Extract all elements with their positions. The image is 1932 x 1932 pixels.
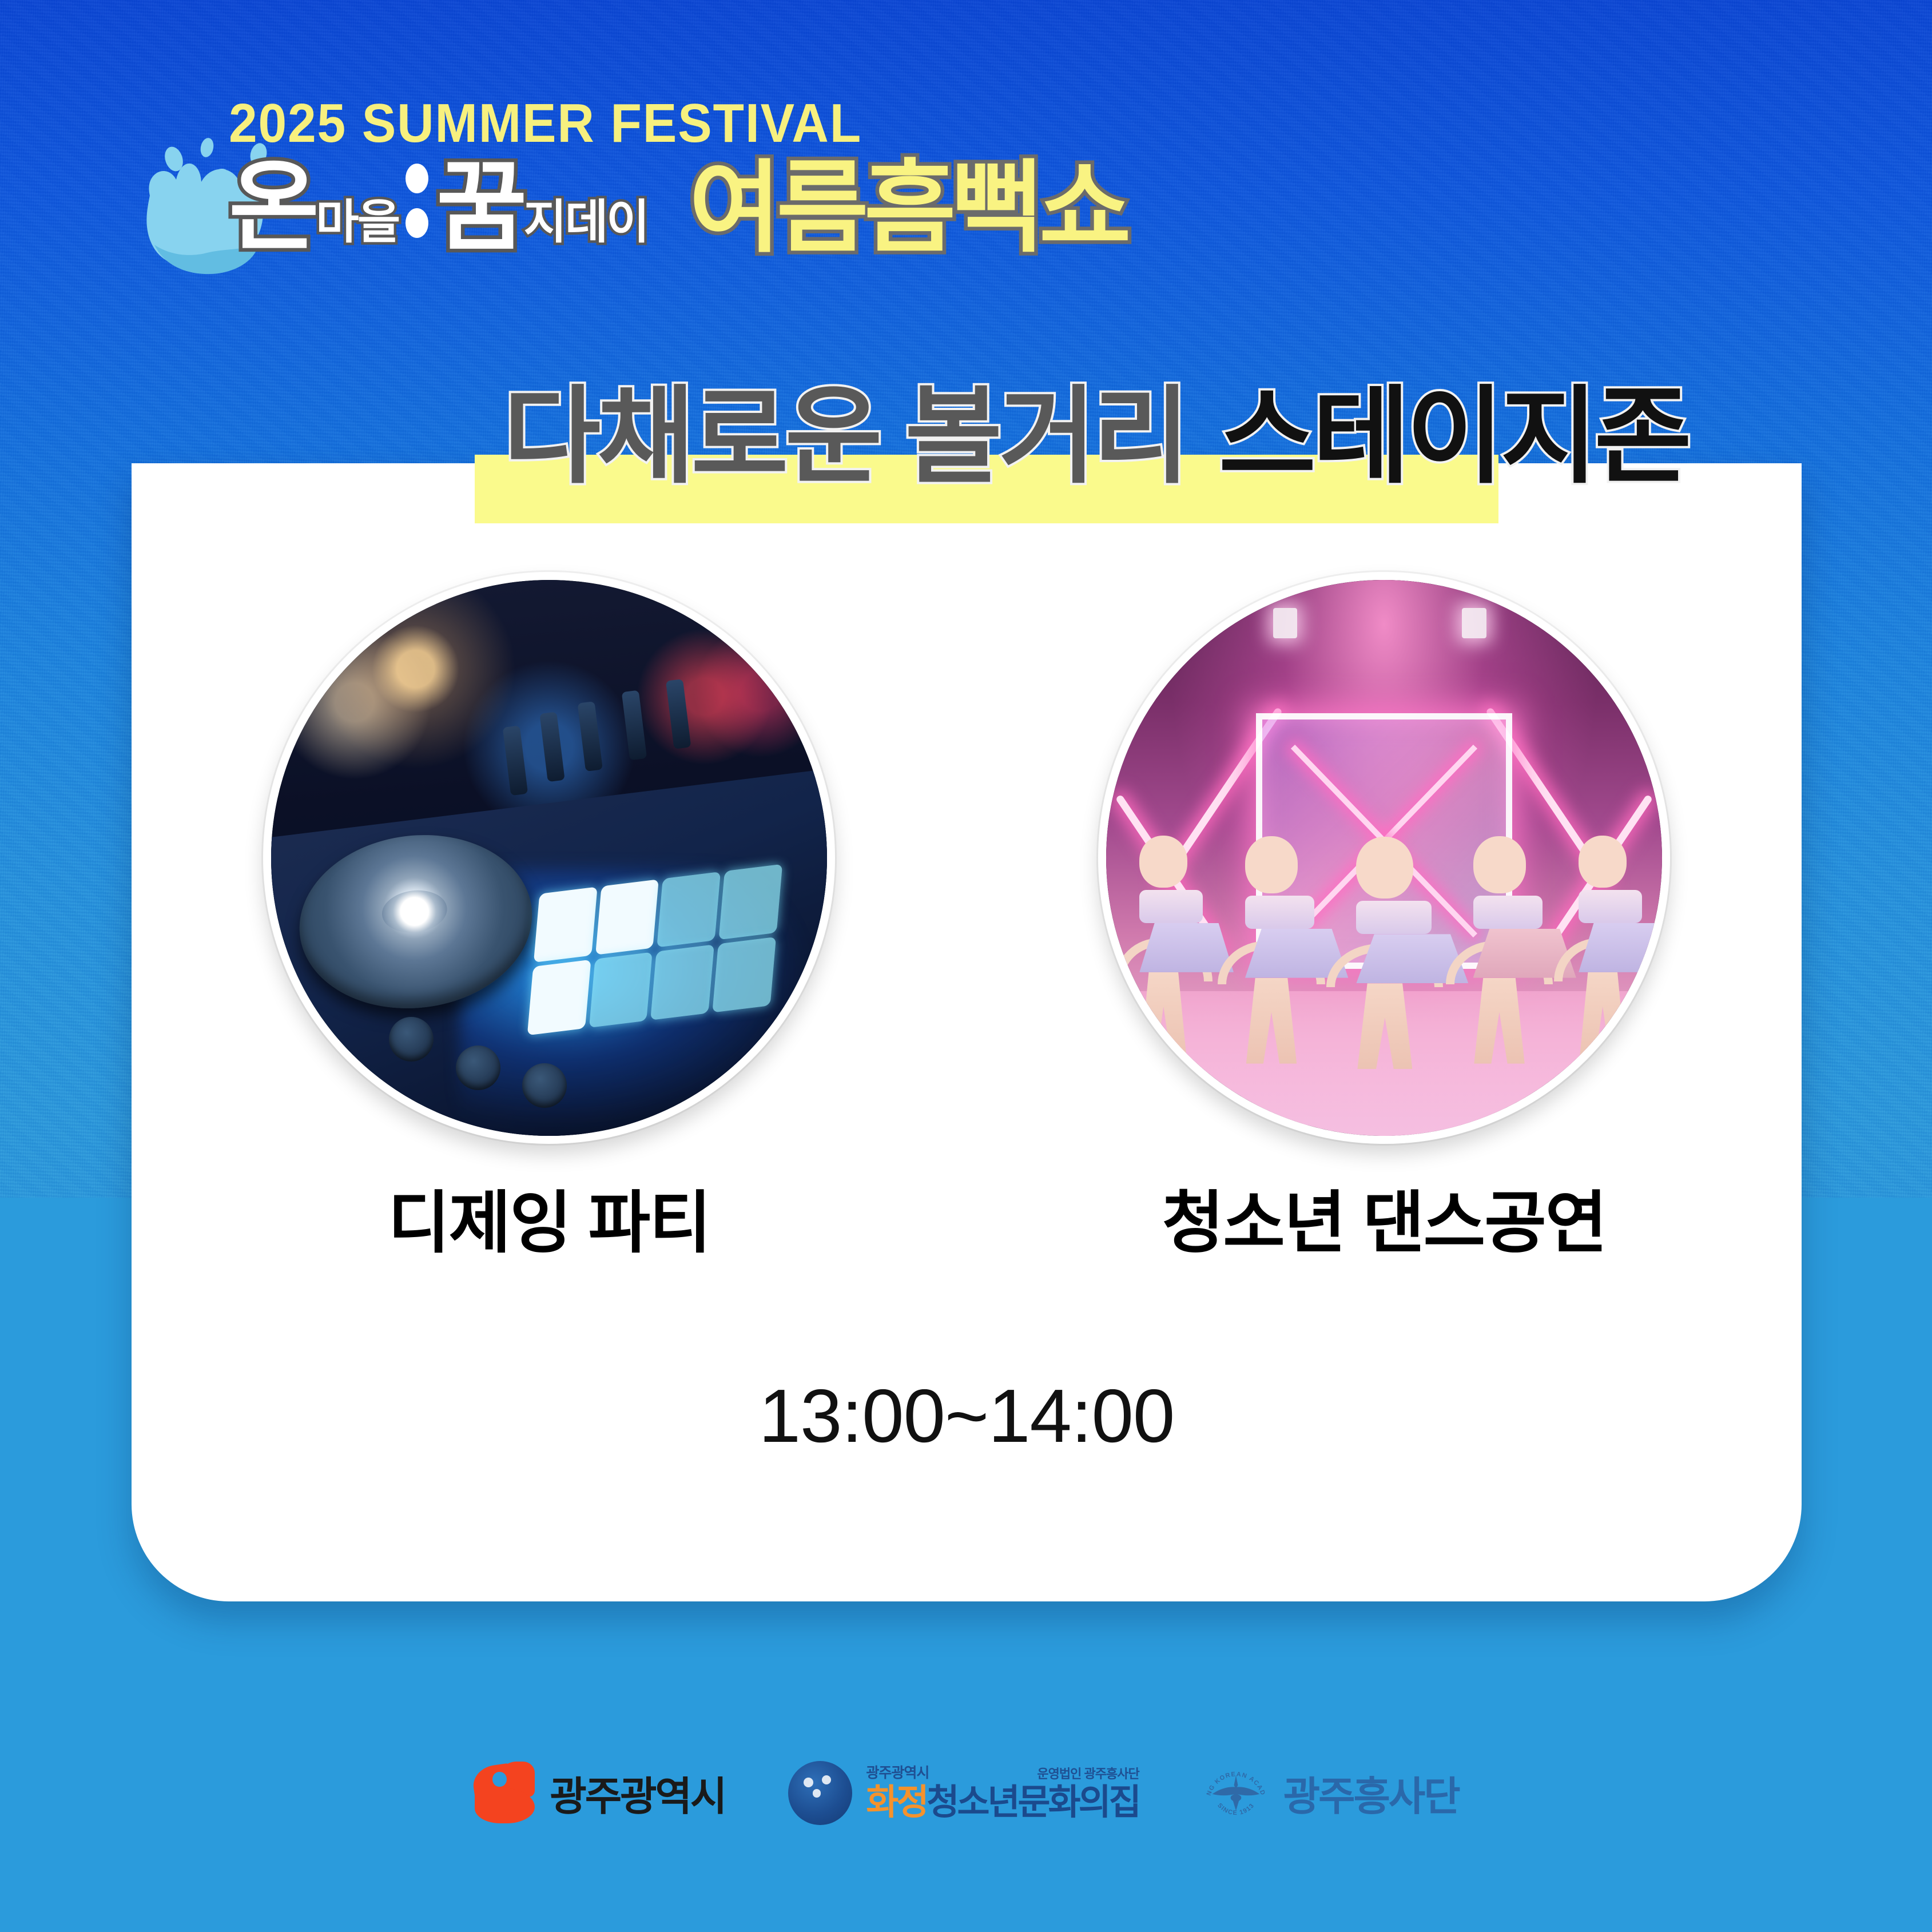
logo-word-on: 온	[229, 161, 316, 254]
program-item-dj[interactable]: 디제잉 파티	[206, 572, 892, 1257]
section-banner-title: 스테이지존	[1219, 378, 1688, 496]
hwajeong-sup-left: 광주광역시	[866, 1766, 929, 1780]
young-korean-academy-mark: YOUNG KOREAN ACADEMY SINCE 1913	[1202, 1759, 1270, 1827]
youth-dance-performance-photo	[1098, 572, 1670, 1144]
sponsor-young-korean-academy-label: 광주흥사단	[1283, 1764, 1459, 1822]
sponsor-footer: 광주광역시 광주광역시 운영법인 광주흥사단 화정청소년문화의집 YOU	[0, 1727, 1932, 1859]
hwajeong-name-blue: 청소년문화의집	[927, 1783, 1139, 1822]
program-label-dj: 디제잉 파티	[206, 1190, 892, 1257]
program-list: 디제잉 파티 청소년 댄스공연	[132, 572, 1802, 1327]
sponsor-gwangju-city-label: 광주광역시	[550, 1764, 725, 1822]
festival-korean-logo: 온 마을 꿈 지데이 여름흠뻑쇼	[229, 159, 1127, 254]
hwajeong-youth-center-mark	[788, 1761, 852, 1825]
bird-icon	[1211, 1774, 1261, 1812]
sponsor-hwajeong-youth-center[interactable]: 광주광역시 운영법인 광주흥사단 화정청소년문화의집	[788, 1761, 1139, 1825]
logo-colon-icon	[406, 164, 428, 238]
brand-lockup: 2025 SUMMER FESTIVAL 온 마을 꿈 지데이 여름흠뻑쇼	[229, 96, 1127, 254]
program-item-dance[interactable]: 청소년 댄스공연	[1041, 572, 1727, 1257]
gwangju-city-mark	[473, 1762, 536, 1824]
festival-english-title: 2025 SUMMER FESTIVAL	[229, 96, 1064, 151]
logo-tagline: 여름흠뻑쇼	[689, 161, 1127, 256]
dj-controller-photo	[263, 572, 835, 1144]
logo-word-maeul: 마을	[316, 199, 399, 246]
section-banner: 다채로운 볼거리스테이지존	[503, 384, 1688, 490]
section-banner-subtitle: 다채로운 볼거리	[503, 378, 1187, 496]
sponsor-young-korean-academy[interactable]: YOUNG KOREAN ACADEMY SINCE 1913 광주흥사단	[1202, 1759, 1459, 1827]
sponsor-gwangju-city[interactable]: 광주광역시	[473, 1762, 725, 1824]
logo-word-kkum: 꿈	[436, 161, 523, 254]
poster-header: 2025 SUMMER FESTIVAL 온 마을 꿈 지데이 여름흠뻑쇼	[0, 0, 1932, 297]
hwajeong-name-orange: 화정	[866, 1783, 927, 1822]
program-label-dance: 청소년 댄스공연	[1041, 1190, 1727, 1257]
logo-word-jiday: 지데이	[523, 199, 647, 246]
program-time: 13:00~14:00	[132, 1373, 1802, 1459]
hwajeong-sup-right: 운영법인 광주흥사단	[1037, 1768, 1139, 1780]
